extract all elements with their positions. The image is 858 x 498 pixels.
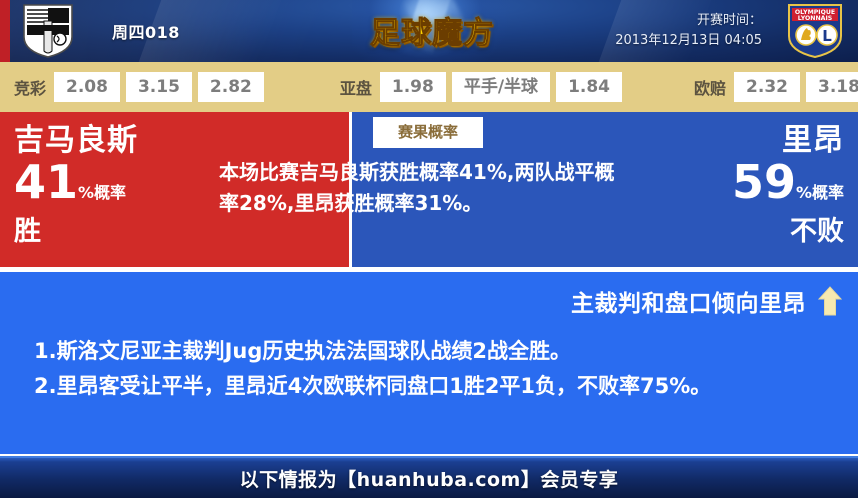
vitoria-guimaraes-crest bbox=[22, 3, 74, 59]
odds-bar: 竞彩 2.08 3.15 2.82 亚盘 1.98 平手/半球 1.84 欧赔 … bbox=[0, 62, 858, 112]
kickoff-time-block: 开赛时间： 2013年12月13日 04:05 bbox=[615, 11, 762, 51]
odds-value-home[interactable]: 2.08 bbox=[54, 72, 120, 102]
round-label: 周四018 bbox=[112, 19, 180, 43]
odds-value-draw[interactable]: 3.18 bbox=[806, 72, 858, 102]
insight-panel: 主裁判和盘口倾向里昂 1.斯洛文尼亚主裁判Jug历史执法法国球队战绩2战全胜。 … bbox=[0, 272, 858, 454]
insight-headline: 主裁判和盘口倾向里昂 bbox=[571, 284, 806, 318]
odds-value-away[interactable]: 1.84 bbox=[556, 72, 622, 102]
footer-bar: 以下情报为【huanhuba.com】会员专享 bbox=[0, 456, 858, 498]
footer-top-highlight bbox=[0, 456, 858, 458]
list-item: 1.斯洛文尼亚主裁判Jug历史执法法国球队战绩2战全胜。 bbox=[34, 334, 824, 369]
home-team-summary: 吉马良斯 41%概率 胜 bbox=[14, 124, 214, 247]
odds-group-jingcai: 竞彩 2.08 3.15 2.82 bbox=[14, 72, 270, 102]
kickoff-label: 开赛时间： bbox=[615, 11, 762, 31]
insight-list: 1.斯洛文尼亚主裁判Jug历史执法法国球队战绩2战全胜。 2.里昂客受让平半，里… bbox=[34, 334, 824, 404]
away-probability-number: 59 bbox=[732, 155, 796, 209]
home-probability-suffix: %概率 bbox=[78, 183, 126, 202]
svg-text:L: L bbox=[822, 27, 832, 45]
away-result-label: 不败 bbox=[614, 217, 844, 247]
home-probability-value: 41%概率 bbox=[14, 158, 214, 217]
header-bar: 周四018 足球魔方 开赛时间： 2013年12月13日 04:05 OLYMP… bbox=[0, 0, 858, 62]
header-red-accent-stripe bbox=[0, 0, 10, 62]
list-item: 2.里昂客受让平半，里昂近4次欧联杯同盘口1胜2平1负，不败率75%。 bbox=[34, 369, 824, 404]
kickoff-value: 2013年12月13日 04:05 bbox=[615, 31, 762, 51]
odds-value-draw[interactable]: 3.15 bbox=[126, 72, 192, 102]
away-team-summary: 里昂 59%概率 不败 bbox=[614, 124, 844, 247]
home-result-label: 胜 bbox=[14, 217, 214, 247]
tab-match-result-probability[interactable]: 赛果概率 bbox=[373, 117, 483, 148]
home-probability-number: 41 bbox=[14, 155, 78, 209]
insight-headline-row: 主裁判和盘口倾向里昂 bbox=[571, 284, 842, 318]
odds-value-home[interactable]: 1.98 bbox=[380, 72, 446, 102]
odds-group-label: 亚盘 bbox=[340, 75, 372, 99]
odds-value-away[interactable]: 2.82 bbox=[198, 72, 264, 102]
odds-value-handicap[interactable]: 平手/半球 bbox=[452, 72, 550, 102]
away-team-name: 里昂 bbox=[614, 124, 844, 158]
away-probability-value: 59%概率 bbox=[614, 158, 844, 217]
logo-text: 足球魔方 bbox=[352, 8, 512, 52]
odds-value-home[interactable]: 2.32 bbox=[734, 72, 800, 102]
home-team-name: 吉马良斯 bbox=[14, 124, 214, 158]
away-probability-suffix: %概率 bbox=[796, 183, 844, 202]
olympique-lyonnais-crest: OLYMPIQUE LYONNAIS L OL bbox=[786, 3, 844, 59]
arrow-up-icon bbox=[818, 286, 842, 316]
site-logo[interactable]: 足球魔方 bbox=[352, 0, 512, 62]
match-preview-infographic: 周四018 足球魔方 开赛时间： 2013年12月13日 04:05 OLYMP… bbox=[0, 0, 858, 498]
footer-membership-note: 以下情报为【huanhuba.com】会员专享 bbox=[0, 465, 858, 492]
odds-group-label: 欧赔 bbox=[694, 75, 726, 99]
probability-description: 本场比赛吉马良斯获胜概率41%,两队战平概率28%,里昂获胜概率31%。 bbox=[219, 157, 619, 219]
odds-group-european: 欧赔 2.32 3.18 2.95 bbox=[694, 72, 858, 102]
svg-text:LYONNAIS: LYONNAIS bbox=[798, 15, 832, 22]
odds-group-asian-handicap: 亚盘 1.98 平手/半球 1.84 bbox=[340, 72, 628, 102]
probability-panel: 赛果概率 吉马良斯 41%概率 胜 里昂 59%概率 不败 本场比赛吉马良斯获胜… bbox=[0, 112, 858, 267]
odds-group-label: 竞彩 bbox=[14, 75, 46, 99]
